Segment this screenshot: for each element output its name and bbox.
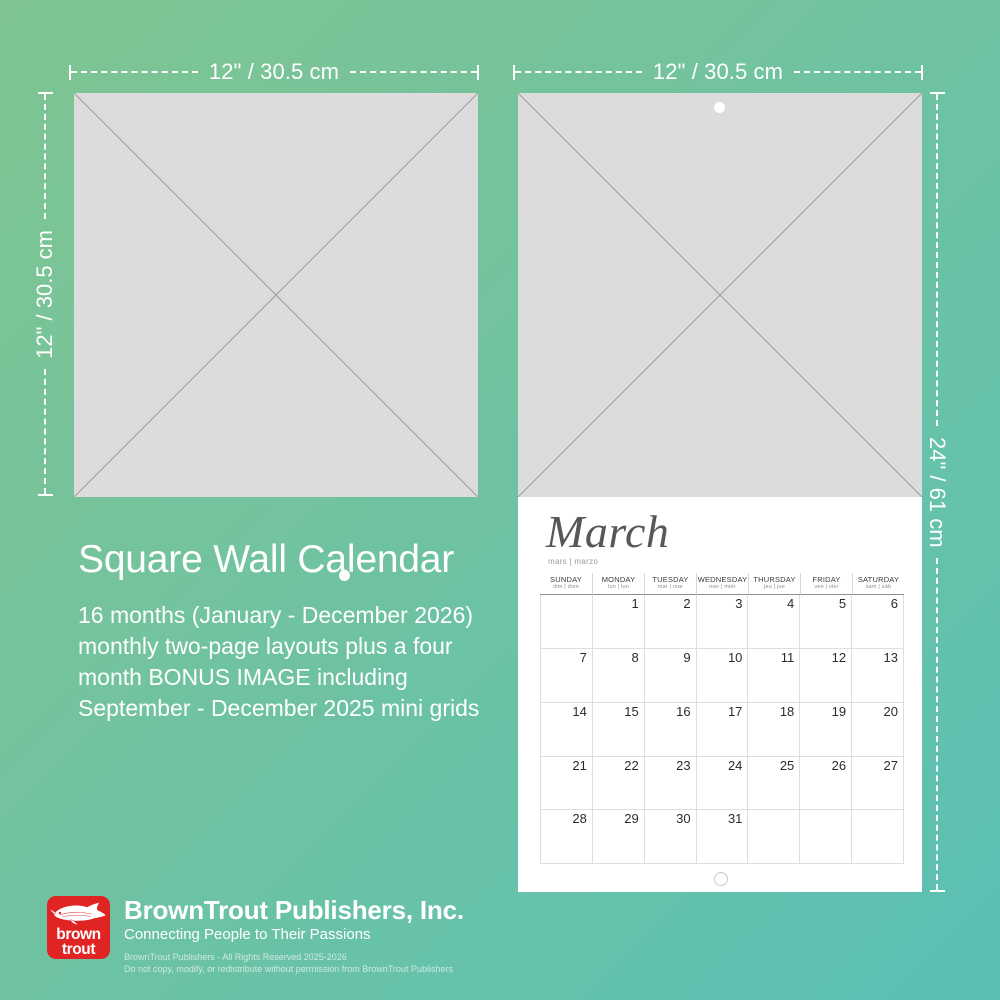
weekday-abbr: dim | dom xyxy=(540,584,592,591)
day-number: 25 xyxy=(780,759,794,773)
day-number: 17 xyxy=(728,705,742,719)
day-number: 15 xyxy=(624,705,638,719)
dimension-cap-end xyxy=(38,494,53,496)
day-number: 5 xyxy=(839,597,846,611)
calendar-day-cell: 14 xyxy=(541,703,593,757)
weekday-name: TUESDAY xyxy=(645,575,696,584)
dimension-cap-end xyxy=(477,65,479,80)
day-number: 6 xyxy=(891,597,898,611)
day-number: 1 xyxy=(631,597,638,611)
dimension-dash-left xyxy=(515,71,642,73)
dimension-dash-right xyxy=(794,71,921,73)
calendar-day-cell: 23 xyxy=(645,757,697,811)
day-number: 23 xyxy=(676,759,690,773)
day-number: 30 xyxy=(676,812,690,826)
calendar-grid-page: March mars | marzo SUNDAY dim | dom MOND… xyxy=(518,497,922,892)
dimension-right-vertical-label: 24" / 61 cm xyxy=(926,426,948,559)
calendar-day-cell xyxy=(541,595,593,649)
weekday-header-monday: MONDAY lun | lun xyxy=(592,573,644,595)
weekday-name: THURSDAY xyxy=(749,575,800,584)
calendar-table: SUNDAY dim | dom MONDAY lun | lun TUESDA… xyxy=(540,573,904,864)
weekday-name: SUNDAY xyxy=(540,575,592,584)
day-number: 19 xyxy=(832,705,846,719)
weekday-header-saturday: SATURDAY sam | sáb xyxy=(852,573,904,595)
dimension-top-left-label: 12" / 30.5 cm xyxy=(198,61,350,83)
footer-text-block: BrownTrout Publishers, Inc. Connecting P… xyxy=(124,896,464,975)
dimension-dash-bottom xyxy=(936,558,938,890)
calendar-day-cell: 2 xyxy=(645,595,697,649)
calendar-day-cell: 7 xyxy=(541,649,593,703)
day-number: 12 xyxy=(832,651,846,665)
weekday-abbr: lun | lun xyxy=(593,584,644,591)
calendar-day-cell: 17 xyxy=(697,703,749,757)
description-line: 16 months (January - December 2026) xyxy=(78,600,479,631)
calendar-day-cell: 31 xyxy=(697,810,749,864)
weekday-abbr: mar | mar xyxy=(645,584,696,591)
calendar-day-cell: 13 xyxy=(852,649,904,703)
dimension-dash-top xyxy=(44,94,46,219)
page-title: Square Wall Calendar xyxy=(78,540,454,579)
calendar-day-cell: 22 xyxy=(593,757,645,811)
trout-fish-icon xyxy=(50,900,107,926)
calendar-day-cell: 25 xyxy=(748,757,800,811)
calendar-day-cell: 6 xyxy=(852,595,904,649)
day-number: 26 xyxy=(832,759,846,773)
calendar-month-title: March xyxy=(546,509,669,555)
dimension-cap-end xyxy=(930,890,945,892)
dimension-dash-right xyxy=(350,71,477,73)
dimension-top-right: 12" / 30.5 cm xyxy=(513,63,923,81)
day-number: 2 xyxy=(683,597,690,611)
description-line: monthly two-page layouts plus a four xyxy=(78,631,479,662)
trout-fish-svg xyxy=(50,900,107,926)
legal-line-2: Do not copy, modify, or redistribute wit… xyxy=(124,963,464,975)
weekday-header-friday: FRIDAY ven | vier xyxy=(800,573,852,595)
calendar-day-cell: 20 xyxy=(852,703,904,757)
dimension-cap-end xyxy=(921,65,923,80)
calendar-day-cell: 9 xyxy=(645,649,697,703)
day-number: 20 xyxy=(884,705,898,719)
dimension-top-left: 12" / 30.5 cm xyxy=(69,63,479,81)
calendar-day-cell: 29 xyxy=(593,810,645,864)
day-number: 29 xyxy=(624,812,638,826)
calendar-day-cells: 1 2 3 4 5 6 7 8 9 10 11 12 13 14 15 16 1… xyxy=(540,595,904,864)
day-number: 3 xyxy=(735,597,742,611)
weekday-name: MONDAY xyxy=(593,575,644,584)
weekday-abbr: mer | miér xyxy=(697,584,748,591)
day-number: 18 xyxy=(780,705,794,719)
dimension-dash-bottom xyxy=(44,369,46,494)
day-number: 10 xyxy=(728,651,742,665)
weekday-name: FRIDAY xyxy=(801,575,852,584)
calendar-month-translations: mars | marzo xyxy=(548,557,598,566)
footer: brown trout BrownTrout Publishers, Inc. … xyxy=(47,896,747,975)
calendar-day-cell: 27 xyxy=(852,757,904,811)
calendar-day-cell: 15 xyxy=(593,703,645,757)
calendar-day-cell xyxy=(800,810,852,864)
product-description: 16 months (January - December 2026) mont… xyxy=(78,600,479,724)
dimension-right-vertical: 24" / 61 cm xyxy=(928,92,946,892)
day-number: 24 xyxy=(728,759,742,773)
calendar-day-cell xyxy=(852,810,904,864)
calendar-day-cell: 26 xyxy=(800,757,852,811)
logo-word-trout: trout xyxy=(47,942,110,958)
dimension-top-right-label: 12" / 30.5 cm xyxy=(642,61,794,83)
day-number: 16 xyxy=(676,705,690,719)
calendar-day-cell: 3 xyxy=(697,595,749,649)
hole-punch-icon xyxy=(714,872,728,886)
cover-image-panel xyxy=(74,93,478,497)
day-number: 8 xyxy=(631,651,638,665)
legal-notice: BrownTrout Publishers - All Rights Reser… xyxy=(124,951,464,975)
calendar-day-cell xyxy=(748,810,800,864)
brand-name: BrownTrout Publishers, Inc. xyxy=(124,897,464,924)
dimension-dash-top xyxy=(936,94,938,426)
day-number: 7 xyxy=(580,651,587,665)
day-number: 11 xyxy=(781,651,795,665)
dimension-dash-left xyxy=(71,71,198,73)
calendar-day-cell: 19 xyxy=(800,703,852,757)
day-number: 28 xyxy=(572,812,586,826)
placeholder-x-icon xyxy=(518,93,922,497)
day-number: 9 xyxy=(683,651,690,665)
calendar-day-cell: 12 xyxy=(800,649,852,703)
legal-line-1: BrownTrout Publishers - All Rights Reser… xyxy=(124,951,464,963)
day-number: 4 xyxy=(787,597,794,611)
weekday-header-thursday: THURSDAY jeu | jue xyxy=(748,573,800,595)
day-number: 13 xyxy=(884,651,898,665)
hole-punch-icon xyxy=(714,102,725,113)
dimension-left-vertical-label: 12" / 30.5 cm xyxy=(34,219,56,370)
calendar-day-cell: 5 xyxy=(800,595,852,649)
calendar-day-cell: 11 xyxy=(748,649,800,703)
weekday-header-sunday: SUNDAY dim | dom xyxy=(540,573,592,595)
calendar-day-cell: 8 xyxy=(593,649,645,703)
calendar-day-cell: 1 xyxy=(593,595,645,649)
day-number: 27 xyxy=(884,759,898,773)
weekday-abbr: sam | sáb xyxy=(853,584,904,591)
description-line: month BONUS IMAGE including xyxy=(78,662,479,693)
dimension-left-vertical: 12" / 30.5 cm xyxy=(36,92,54,496)
calendar-top-image-panel xyxy=(518,93,922,497)
placeholder-x-icon xyxy=(74,93,478,497)
weekday-abbr: jeu | jue xyxy=(749,584,800,591)
product-listing-graphic: 12" / 30.5 cm 12" / 30.5 cm 12" / 30.5 c… xyxy=(0,0,1000,1000)
calendar-day-cell: 24 xyxy=(697,757,749,811)
day-number: 22 xyxy=(624,759,638,773)
weekday-header-tuesday: TUESDAY mar | mar xyxy=(644,573,696,595)
description-line: September - December 2025 mini grids xyxy=(78,693,479,724)
calendar-day-cell: 28 xyxy=(541,810,593,864)
calendar-day-cell: 18 xyxy=(748,703,800,757)
weekday-name: SATURDAY xyxy=(853,575,904,584)
calendar-day-cell: 30 xyxy=(645,810,697,864)
day-number: 31 xyxy=(728,812,742,826)
weekday-header-wednesday: WEDNESDAY mer | miér xyxy=(696,573,748,595)
calendar-day-cell: 16 xyxy=(645,703,697,757)
calendar-day-cell: 21 xyxy=(541,757,593,811)
browntrout-logo: brown trout xyxy=(47,896,110,959)
day-number: 14 xyxy=(572,705,586,719)
day-number: 21 xyxy=(572,759,586,773)
weekday-abbr: ven | vier xyxy=(801,584,852,591)
weekday-name: WEDNESDAY xyxy=(697,575,748,584)
calendar-day-cell: 4 xyxy=(748,595,800,649)
brand-tagline: Connecting People to Their Passions xyxy=(124,925,464,945)
calendar-day-cell: 10 xyxy=(697,649,749,703)
calendar-weekday-header: SUNDAY dim | dom MONDAY lun | lun TUESDA… xyxy=(540,573,904,595)
